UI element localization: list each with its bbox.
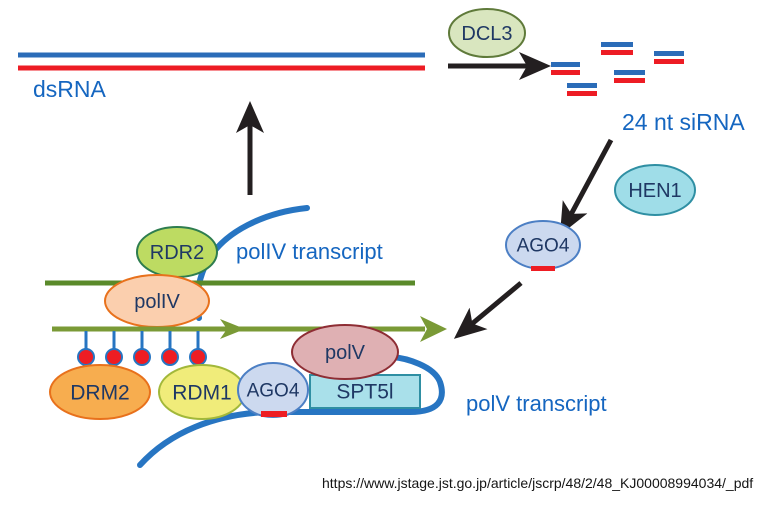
sirna-loading-arrow <box>568 140 611 220</box>
drm2-label: DRM2 <box>70 382 130 405</box>
ago4-free-sirna-bar <box>531 266 555 271</box>
polv-node[interactable]: polV <box>292 325 398 379</box>
ago4-complex-sirna-bar <box>261 411 287 417</box>
methylation-mark <box>134 331 150 365</box>
methylation-mark-group <box>78 331 206 365</box>
source-url-caption: https://www.jstage.jst.go.jp/article/jsc… <box>322 475 753 491</box>
rdr2-label: RDR2 <box>150 242 204 264</box>
sirna-duplex-group <box>551 42 684 96</box>
spt5l-node[interactable]: SPT5l <box>310 375 420 408</box>
ago4-free-node[interactable]: AGO4 <box>506 221 580 271</box>
ago4-complex-label: AGO4 <box>247 381 300 402</box>
rdm1-node[interactable]: RDM1 <box>159 365 245 419</box>
sirna-duplex <box>601 42 633 55</box>
sirna-duplex <box>567 83 597 96</box>
sirna-duplex <box>654 51 684 64</box>
ago4-free-label: AGO4 <box>517 236 570 257</box>
dsrna-label: dsRNA <box>33 76 107 102</box>
methylation-mark <box>78 331 94 365</box>
methylation-mark <box>162 331 178 365</box>
polv-transcript-label: polV transcript <box>466 391 607 416</box>
dcl3-node[interactable]: DCL3 <box>449 9 525 57</box>
sirna-duplex <box>614 70 645 83</box>
rdr2-node[interactable]: RDR2 <box>137 227 217 277</box>
diagram-canvas: dsRNA DCL3 <box>0 0 765 509</box>
dsrna-duplex <box>18 55 425 68</box>
dcl3-label: DCL3 <box>461 23 512 45</box>
rdm1-label: RDM1 <box>172 382 232 405</box>
spt5l-label: SPT5l <box>336 381 393 404</box>
drm2-node[interactable]: DRM2 <box>50 365 150 419</box>
hen1-node[interactable]: HEN1 <box>615 165 695 215</box>
poliv-label: polIV <box>134 291 180 313</box>
methylation-mark <box>190 331 206 365</box>
hen1-label: HEN1 <box>628 180 681 202</box>
sirna-label: 24 nt siRNA <box>622 109 745 135</box>
polv-label: polV <box>325 342 366 364</box>
poliv-transcript-label: polIV transcript <box>236 239 383 264</box>
ago4-complex-node[interactable]: AGO4 <box>238 363 308 417</box>
sirna-duplex <box>551 62 580 75</box>
ago4-targeting-arrow <box>467 283 521 328</box>
methylation-mark <box>106 331 122 365</box>
rddm-pathway-diagram: dsRNA DCL3 <box>0 0 765 509</box>
poliv-node[interactable]: polIV <box>105 275 209 327</box>
